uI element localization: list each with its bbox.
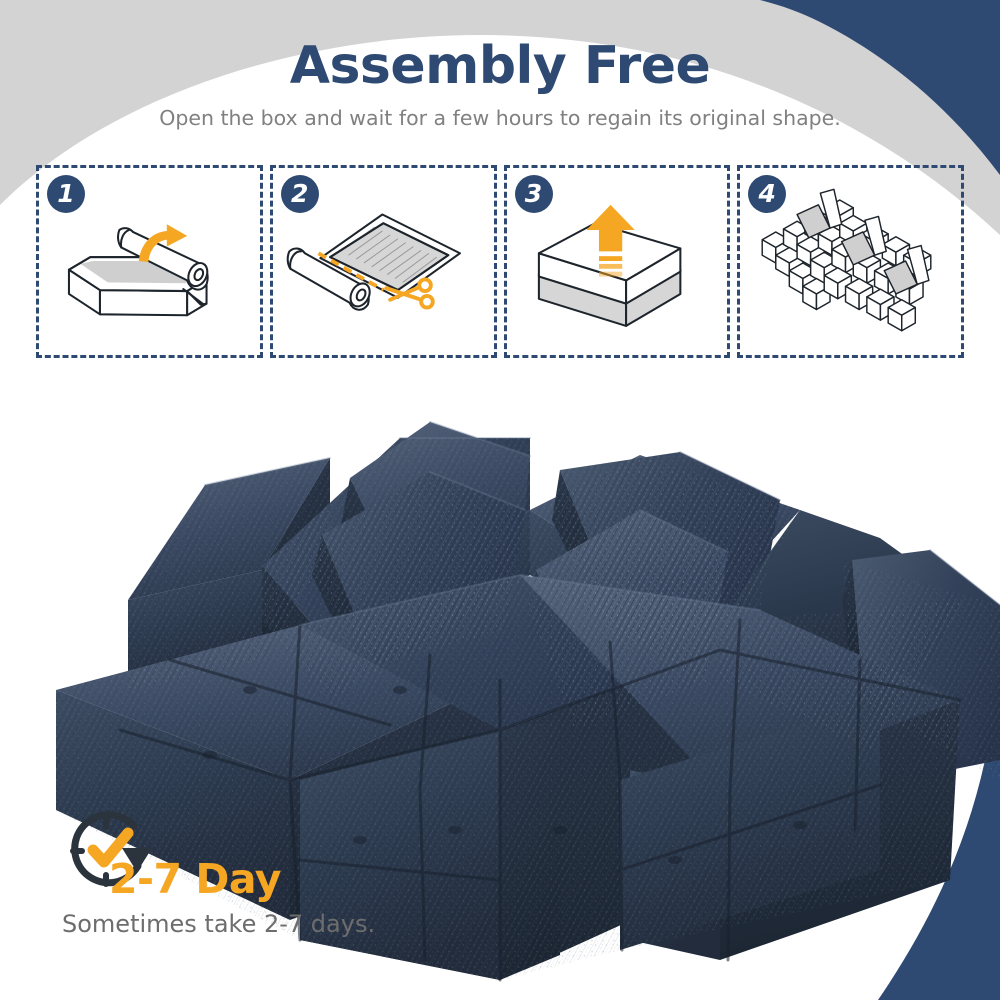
delivery-headline: 2-7 Day bbox=[109, 855, 281, 903]
step-number-badge-4: 4 bbox=[748, 175, 786, 213]
step-box-1: 1 bbox=[36, 165, 263, 358]
infographic-canvas: Assembly Free Open the box and wait for … bbox=[0, 0, 1000, 1000]
step-number-badge-2: 2 bbox=[281, 175, 319, 213]
delivery-note: Sometimes take 2-7 days. bbox=[62, 910, 375, 938]
assembly-steps-list: 1 bbox=[36, 165, 964, 358]
step-box-3: 3 bbox=[504, 165, 731, 358]
step-box-4: 4 bbox=[737, 165, 964, 358]
step-number-badge-1: 1 bbox=[47, 175, 85, 213]
step-box-2: 2 bbox=[270, 165, 497, 358]
delivery-time-badge: 2-7 Day Sometimes take 2-7 days. bbox=[52, 800, 452, 960]
step-number-badge-3: 3 bbox=[515, 175, 553, 213]
